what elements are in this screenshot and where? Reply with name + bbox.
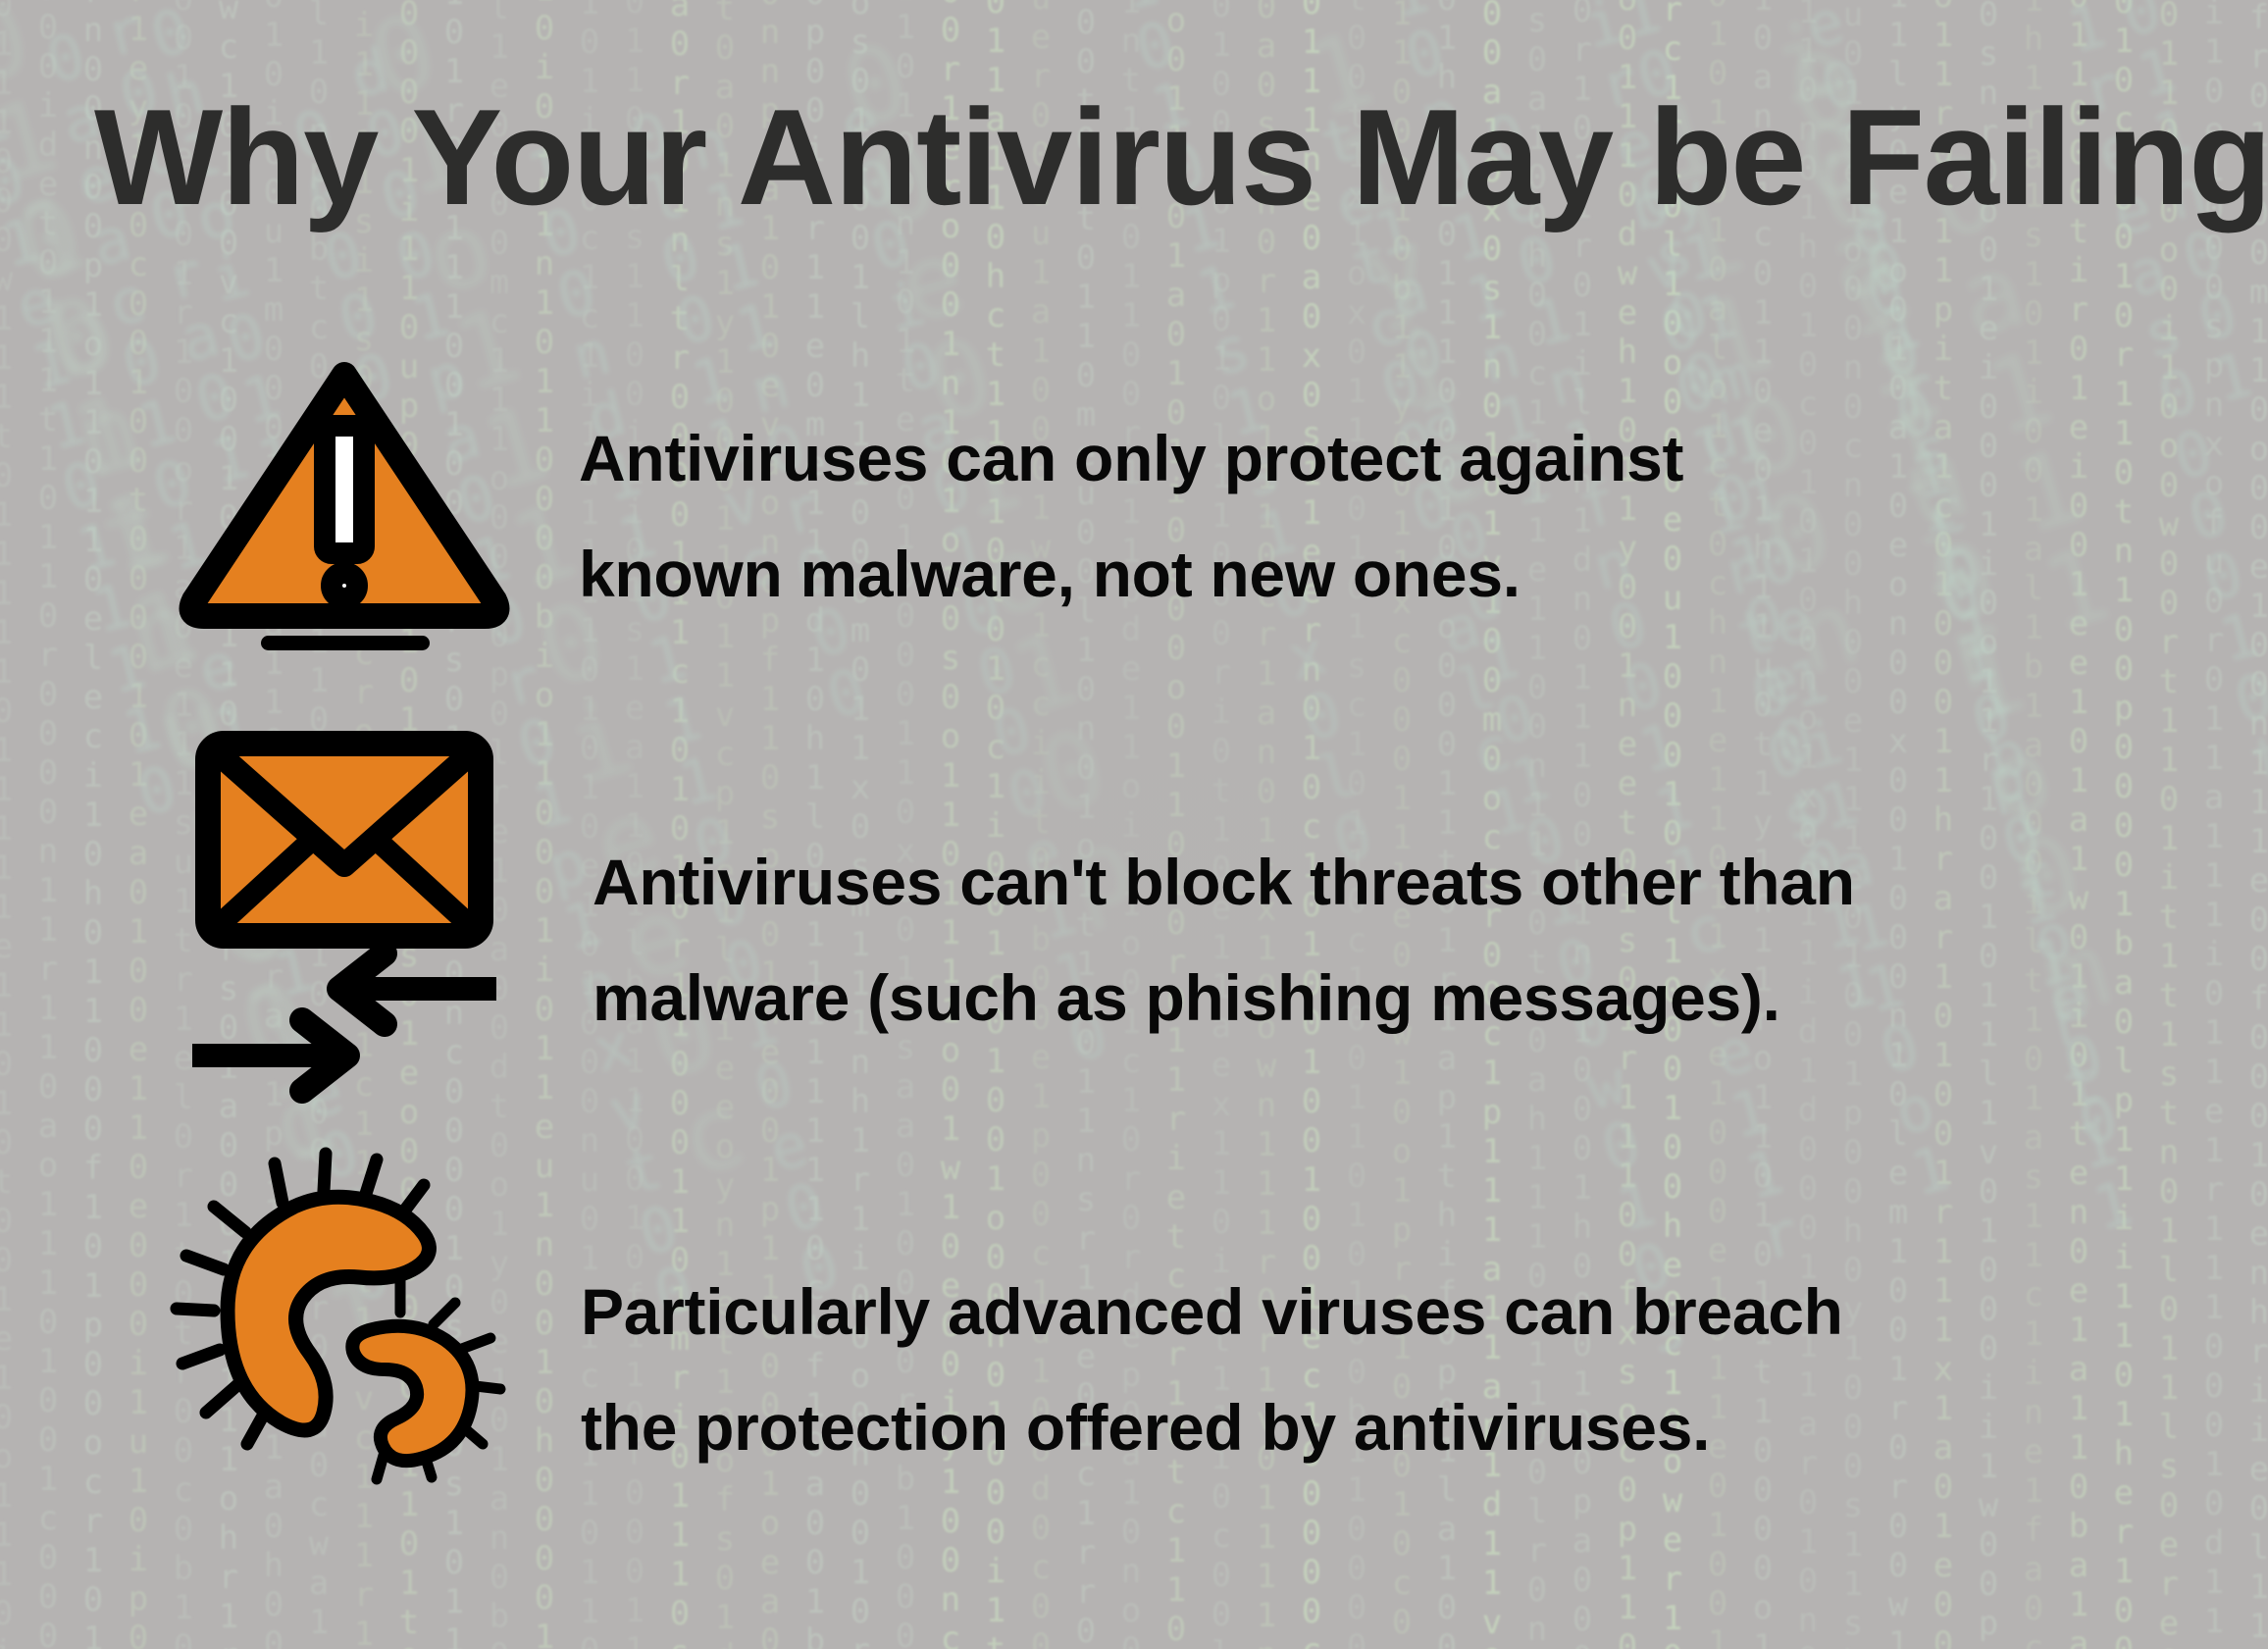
background-code-column: 1 a 0 0 i d e t 0 1 1 1 t 1 0 1 1 0 r 0 … <box>26 0 71 1649</box>
background-code-column: 0 0 0 1 1 0 1 0 o 0 i 1 0 o 0 w 0 0 r t … <box>2146 0 2191 1649</box>
arrow-left-icon <box>337 953 496 1024</box>
envelope-with-arrows-icon <box>192 726 506 1099</box>
warning-triangle-icon <box>182 353 506 647</box>
page-title: Why Your Antivirus May be Failing <box>94 94 2233 222</box>
background-code-column: p r 1 e y 1 d 0 c 0 0 1 0 0 t 0 0 0 0 1 … <box>116 0 161 1649</box>
background-code-column: e 0 1 1 h 1 r a 1 s 1 0 1 i 0 0 1 a l 1 … <box>2011 0 2056 1649</box>
point-row-2: Antiviruses can't block threats other th… <box>192 726 1855 1099</box>
background-code-column: l 1 1 0 1 0 c r o 0 1 0 r 1 1 0 t n 1 0 … <box>2101 0 2146 1649</box>
background-code-column: 1 t a r n 0 0 n 0 0 p 1 o 1 1 0 1 1 0 e … <box>71 0 116 1649</box>
background-code-column: 0 0 0 1 0 s n r 0 o 0 1 e i 0 0 0 1 i 0 … <box>1966 0 2011 1649</box>
background-code-column: 0 n 1 i 1 0 e 1 0 0 0 s p n x o f u 0 r … <box>2191 0 2237 1649</box>
infographic-poster: l m 0 1 1 1 0 0 0 w 1 1 1 t 0 1 1 1 1 1 … <box>0 0 2268 1649</box>
arrow-right-icon <box>192 1020 347 1091</box>
background-code-column: l m 0 1 1 1 0 0 0 w 1 1 1 t 0 1 1 1 1 1 … <box>0 0 26 1649</box>
virus-bacteria-icon <box>177 1146 510 1479</box>
background-code-column: 1 1 a f r 0 1 1 0 0 m 1 1 0 o 0 0 e 1 0 … <box>2237 0 2268 1649</box>
background-code-column: f 0 1 1 0 0 0 t i r 0 1 e i 0 0 1 e e 1 … <box>2056 0 2101 1649</box>
background-code-column: w 1 1 1 l y 0 e 1 o 0 1 0 a 1 0 e o n 0 … <box>1876 0 1921 1649</box>
background-code-column-medium: 1 0 0 n d 1 1 0 1 1 1 0 0 0 1 0 e 0 0 <box>501 133 864 1310</box>
background-code-column-medium: 0 e 0 1 n 1 f n 0 0 1 1 1 c e e 1 1 r <box>1462 100 1825 1276</box>
background-code-column: 0 o 1 1 r 0 r 1 1 p i t a 1 c 0 1 0 0 0 … <box>1921 0 1966 1649</box>
background-code-column-medium: d 0 0 0 1 t 0 1 0 p 0 1 1 r t 1 1 <box>1826 192 2158 1247</box>
point-3-text: Particularly advanced viruses can breach… <box>581 1254 1843 1485</box>
point-row-3: Particularly advanced viruses can breach… <box>177 1146 1843 1485</box>
point-1-text: Antiviruses can only protect against kno… <box>579 400 1683 632</box>
point-row-1: Antiviruses can only protect against kno… <box>182 353 1683 647</box>
point-2-text: Antiviruses can't block threats other th… <box>593 824 1855 1056</box>
envelope-icon <box>208 744 481 936</box>
